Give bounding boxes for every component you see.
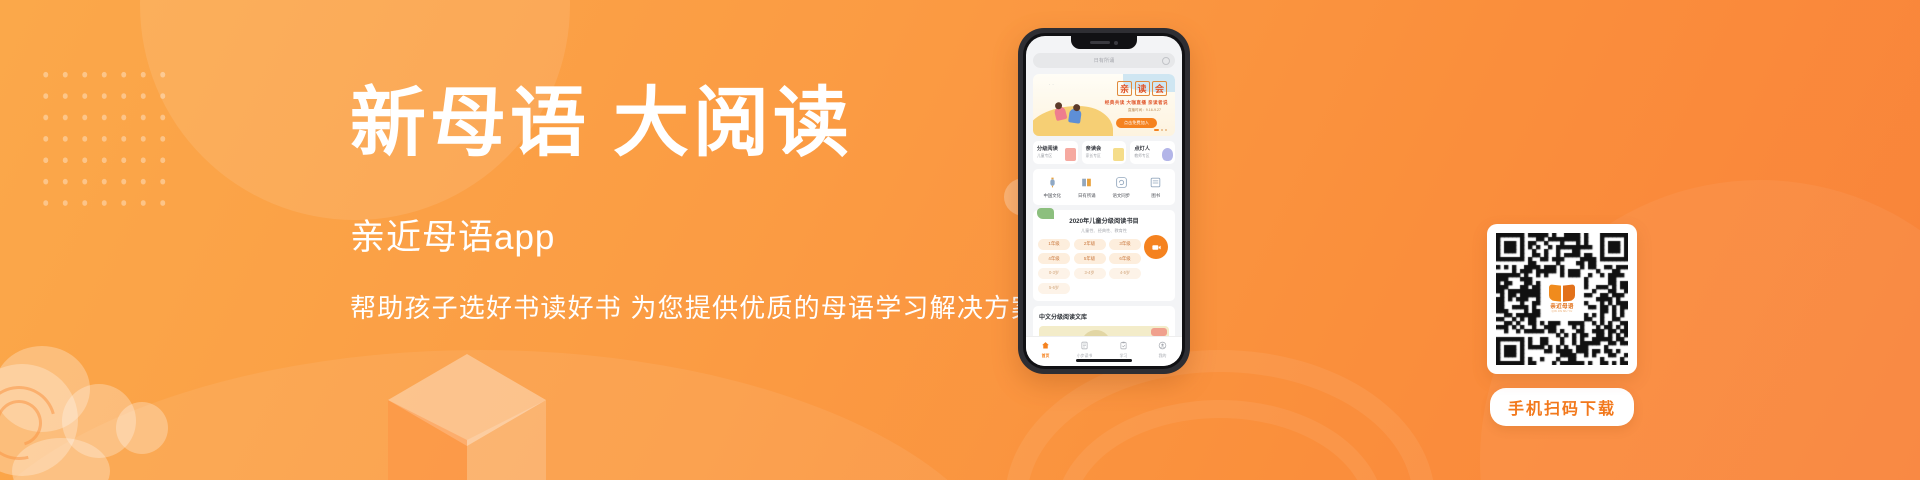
scan-icon[interactable] <box>1162 57 1170 65</box>
grade-chips: 1年级 2年级 3年级 4年级 5年级 6年级 0-3岁 3-4岁 4-5岁 5… <box>1038 239 1143 294</box>
app-name-subtitle: 亲近母语app <box>350 209 1050 260</box>
hero-title: 亲 读 会 <box>1117 81 1167 96</box>
age-chip[interactable]: 0-3岁 <box>1038 268 1070 279</box>
hero-date: 直播时间：9.16-9.27 <box>1128 108 1161 113</box>
tagline: 帮助孩子选好书读好书 为您提供优质的母语学习解决方案 <box>350 288 1050 325</box>
tab-study[interactable]: 学习 <box>1107 340 1141 359</box>
books-icon <box>1139 175 1173 190</box>
age-chip[interactable]: 5-6岁 <box>1038 283 1070 294</box>
booklist-title: 2020年儿童分级阅读书目 <box>1038 216 1170 225</box>
grade-chip[interactable]: 2年级 <box>1074 239 1106 250</box>
sync-icon <box>1104 175 1138 190</box>
tab-label: 首页 <box>1029 353 1063 359</box>
play-video-icon[interactable] <box>1144 235 1168 259</box>
quick-link-textbook-sync[interactable]: 语文同步 <box>1104 175 1138 199</box>
isometric-cube-decoration <box>388 354 546 480</box>
marketing-copy: 新母语 大阅读 亲近母语app 帮助孩子选好书读好书 为您提供优质的母语学习解决… <box>350 84 1050 325</box>
search-placeholder: 日有所诵 <box>1094 57 1115 64</box>
category-card-parent-club[interactable]: 亲读会 家长专区 <box>1082 141 1127 164</box>
tab-label: 我的 <box>1146 353 1180 359</box>
leaf-decoration <box>1037 208 1054 219</box>
quick-links-row: 中国文化 日有所诵 <box>1033 169 1175 205</box>
child-illustration-2 <box>1068 108 1082 124</box>
tab-profile[interactable]: 我的 <box>1146 340 1180 359</box>
phone-notch <box>1071 36 1137 49</box>
phone-screen: 日有所诵 ·· 亲 读 会 经典共读 <box>1026 36 1182 366</box>
qr-download-block: 亲近母语 QIN JIN MU YU 手机扫码下载 <box>1487 224 1637 426</box>
hero-subtitle: 经典共读 大咖直播 亲读者说 <box>1105 100 1168 106</box>
download-button[interactable]: 手机扫码下载 <box>1490 388 1634 426</box>
promo-banner: 新母语 大阅读 亲近母语app 帮助孩子选好书读好书 为您提供优质的母语学习解决… <box>0 0 1920 480</box>
quick-link-daily-recitation[interactable]: 日有所诵 <box>1070 175 1104 199</box>
note-icon <box>1113 148 1124 161</box>
home-icon <box>1029 340 1063 351</box>
tab-label: 学习 <box>1107 353 1141 359</box>
library-title: 中文分级阅读文库 <box>1039 312 1169 321</box>
dot-grid-decoration <box>36 64 176 214</box>
lantern-icon <box>1035 175 1069 190</box>
reading-icon <box>1068 340 1102 351</box>
book-logo-icon <box>1549 285 1575 301</box>
carousel-dots[interactable] <box>1154 129 1167 131</box>
quick-link-label: 中国文化 <box>1035 193 1069 199</box>
grade-chip[interactable]: 6年级 <box>1109 253 1141 264</box>
category-card-teacher[interactable]: 点灯人 教师专区 <box>1130 141 1175 164</box>
quick-link-label: 图书 <box>1139 193 1173 199</box>
person-icon <box>1162 148 1173 161</box>
home-indicator <box>1076 359 1132 362</box>
quick-link-books[interactable]: 图书 <box>1139 175 1173 199</box>
phone-bezel: 日有所诵 ·· 亲 读 会 经典共读 <box>1023 33 1185 369</box>
birds-icon: ·· <box>1049 82 1056 87</box>
quick-link-label: 语文同步 <box>1104 193 1138 199</box>
search-input[interactable]: 日有所诵 <box>1033 53 1175 68</box>
category-cards: 分级阅读 儿童专区 亲读会 家长专区 点灯人 教师专区 <box>1033 141 1175 164</box>
age-chip[interactable]: 3-4岁 <box>1074 268 1106 279</box>
grade-chip[interactable]: 3年级 <box>1109 239 1141 250</box>
user-icon <box>1146 340 1180 351</box>
hero-char-1: 亲 <box>1117 81 1132 96</box>
speaker-icon <box>1090 41 1110 44</box>
book-open-icon <box>1070 175 1104 190</box>
tab-reading[interactable]: 小步读书 <box>1068 340 1102 359</box>
auspicious-cloud-icon-large <box>0 346 196 480</box>
bookmark-icon <box>1065 148 1076 161</box>
booklist-section: 2020年儿童分级阅读书目 儿童性、经典性、教育性 1年级 2年级 3年级 4年… <box>1033 210 1175 301</box>
category-card-graded-reading[interactable]: 分级阅读 儿童专区 <box>1033 141 1078 164</box>
age-chip[interactable]: 4-5岁 <box>1109 268 1141 279</box>
phone-mockup: 日有所诵 ·· 亲 读 会 经典共读 <box>1018 28 1190 374</box>
brand-name-pinyin: QIN JIN MU YU <box>1552 310 1573 313</box>
hero-char-3: 会 <box>1152 81 1167 96</box>
qr-code[interactable]: 亲近母语 QIN JIN MU YU <box>1487 224 1637 374</box>
hero-banner[interactable]: ·· 亲 读 会 经典共读 大咖直播 亲读者说 直播时间：9.16-9.27 点… <box>1033 74 1175 136</box>
hero-char-2: 读 <box>1135 81 1150 96</box>
booklist-subtitle: 儿童性、经典性、教育性 <box>1038 228 1170 234</box>
quick-link-chinese-culture[interactable]: 中国文化 <box>1035 175 1069 199</box>
quick-link-label: 日有所诵 <box>1070 193 1104 199</box>
brand-logo: 亲近母语 QIN JIN MU YU <box>1542 279 1582 319</box>
page-title: 新母语 大阅读 <box>350 84 1050 165</box>
camera-icon <box>1114 41 1118 45</box>
tab-home[interactable]: 首页 <box>1029 340 1063 359</box>
grade-chip[interactable]: 5年级 <box>1074 253 1106 264</box>
clipboard-check-icon <box>1107 340 1141 351</box>
hero-cta-button[interactable]: 点击免费加入 <box>1116 118 1157 128</box>
grade-chip[interactable]: 4年级 <box>1038 253 1070 264</box>
grade-chip[interactable]: 1年级 <box>1038 239 1070 250</box>
tab-label: 小步读书 <box>1068 353 1102 359</box>
